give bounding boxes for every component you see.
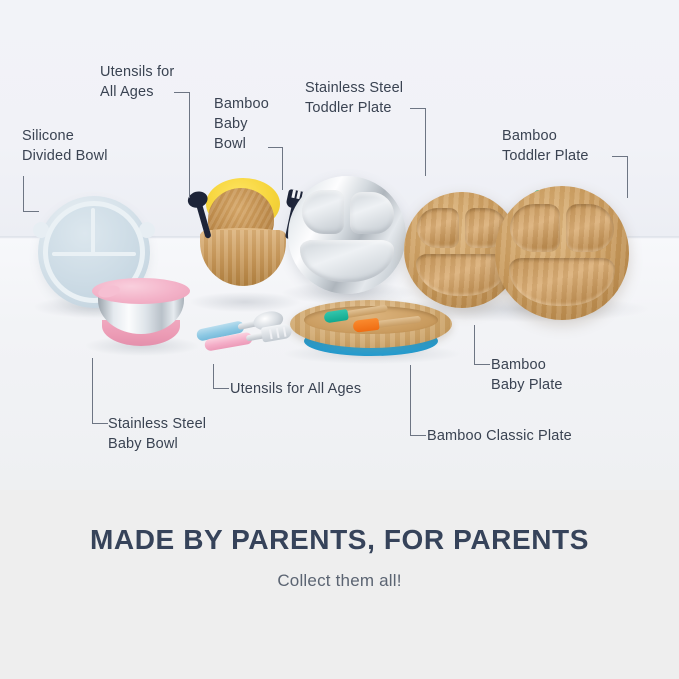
- silicone-bowl-divider-vertical: [91, 208, 95, 254]
- callout-label-bamboo-toddler-plate: Bamboo Toddler Plate: [502, 126, 589, 166]
- footer-headline: MADE BY PARENTS, FOR PARENTS: [0, 524, 679, 556]
- bamboo-bowl-body: [200, 230, 286, 286]
- callout-label-bamboo-baby-plate: Bamboo Baby Plate: [491, 355, 563, 395]
- callout-label-stainless-baby-bowl: Stainless Steel Baby Bowl: [108, 414, 206, 454]
- pink-lid-tab: [97, 284, 121, 300]
- callout-label-silicone-divided-bowl: Silicone Divided Bowl: [22, 126, 108, 166]
- steel-plate-compartment-3: [300, 240, 394, 282]
- product-bamboo-classic-plate: [290, 300, 452, 360]
- product-utensils-for-all-ages: [196, 302, 294, 350]
- bamboo-toddler-plate-face: [495, 186, 629, 320]
- bamboo-toddler-plate-compartment-1: [510, 204, 560, 252]
- steel-plate-disc: [288, 176, 406, 294]
- steel-plate-compartment-2: [350, 192, 394, 234]
- bamboo-baby-plate-compartment-1: [417, 208, 459, 248]
- callout-label-utensils-bottom: Utensils for All Ages: [230, 379, 361, 399]
- silicone-bowl-divider-horizontal: [52, 252, 136, 256]
- classic-plate-disc: [290, 300, 452, 348]
- product-stainless-steel-baby-bowl: [92, 272, 190, 350]
- steel-plate-compartment-1: [302, 190, 344, 234]
- footer-subline: Collect them all!: [0, 571, 679, 591]
- product-stainless-steel-toddler-plate: [288, 176, 406, 298]
- callout-label-bamboo-classic-plate: Bamboo Classic Plate: [427, 426, 572, 446]
- bamboo-baby-plate-compartment-3: [416, 254, 508, 296]
- pink-lid: [92, 278, 190, 304]
- callout-label-bamboo-baby-bowl: Bamboo Baby Bowl: [214, 94, 269, 154]
- callout-label-utensils-top: Utensils for All Ages: [100, 62, 174, 102]
- product-infographic: Silicone Divided Bowl Utensils for All A…: [0, 0, 679, 679]
- product-bamboo-toddler-plate: [495, 186, 629, 320]
- bamboo-toddler-plate-compartment-3: [509, 258, 615, 306]
- product-bamboo-baby-bowl: [196, 178, 292, 310]
- callout-label-stainless-toddler-plate: Stainless Steel Toddler Plate: [305, 78, 403, 118]
- bamboo-toddler-plate-compartment-2: [566, 204, 614, 252]
